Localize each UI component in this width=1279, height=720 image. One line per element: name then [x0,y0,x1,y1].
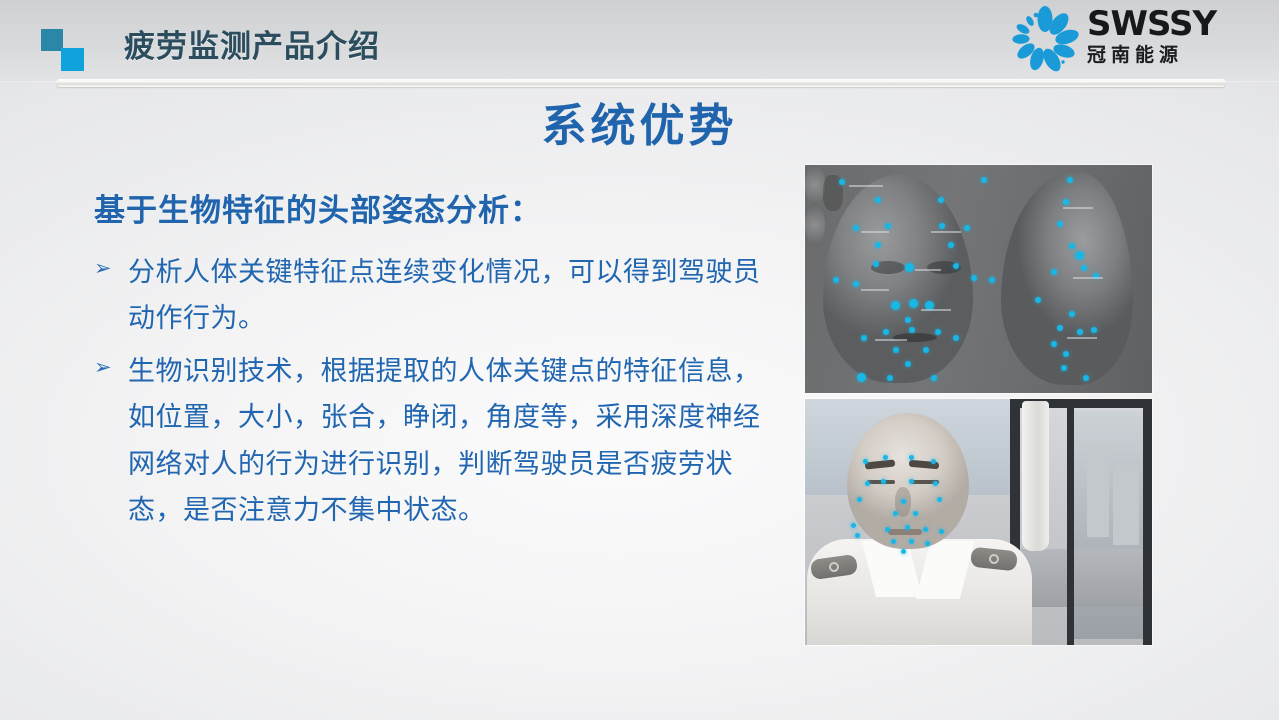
ear-left [805,165,825,205]
window-frame [1067,405,1074,645]
list-item-text: 分析人体关键特征点连续变化情况，可以得到驾驶员动作行为。 [128,249,784,342]
two-squares-icon [41,29,91,71]
brand-logo: SWSSY 冠南能源 [1011,4,1261,76]
lead-statement: 基于生物特征的头部姿态分析： [94,192,784,231]
slide-header: 疲劳监测产品介绍 [0,0,1279,82]
square-light [61,48,84,71]
arrow-bullet-icon: ➢ [94,249,128,279]
background-railcar [1016,549,1152,607]
arrow-bullet-icon: ➢ [94,348,128,378]
flower-petals-logo-icon [1011,6,1079,72]
brand-subtitle: 冠南能源 [1087,46,1262,65]
window-frame [1143,399,1152,645]
list-item: ➢ 分析人体关键特征点连续变化情况，可以得到驾驶员动作行为。 [94,249,784,342]
brand-text: SWSSY 冠南能源 [1087,7,1262,65]
background-building [1113,465,1139,545]
list-item-text: 生物识别技术，根据提取的人体关键点的特征信息，如位置，大小，张合，睁闭，角度等，… [128,348,784,534]
driver-mouth [888,529,922,535]
epaulet-badge [828,561,839,572]
driver-fatigue-detection-image: Driver in cab with facial landmark point… [805,399,1152,645]
cab-scene [805,399,1152,645]
face-landmark-3d-model-image: 3D face model with cyan biometric landma… [805,165,1152,393]
header-divider-rule [56,79,1226,87]
list-item: ➢ 生物识别技术，根据提取的人体关键点的特征信息，如位置，大小，张合，睁闭，角度… [94,348,784,534]
brand-name: SWSSY [1087,7,1262,41]
square-dark [41,29,63,51]
deck-title: 疲劳监测产品介绍 [124,21,380,66]
epaulet-badge [989,554,1000,565]
page-title: 系统优势 [0,89,1279,154]
background-building [1087,445,1109,537]
presentation-slide: 疲劳监测产品介绍 [0,0,1279,720]
face-scene [805,165,1152,393]
slide-body: 基于生物特征的头部姿态分析： ➢ 分析人体关键特征点连续变化情况，可以得到驾驶员… [94,192,784,539]
cab-curtain [1022,401,1049,551]
ear-right [805,205,825,245]
